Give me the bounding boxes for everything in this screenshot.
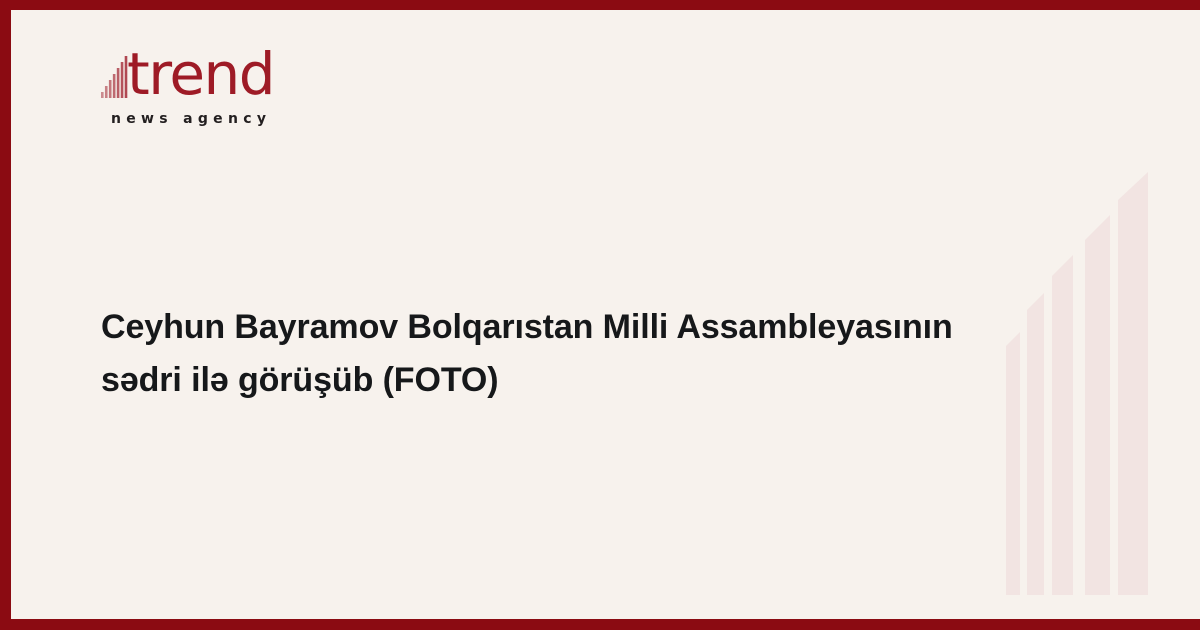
logo-mark-bar-4 [113,74,116,98]
logo-mark-bar-2 [105,86,108,98]
logo-wordmark: trend [127,43,274,105]
logo-mark-bar-6 [121,62,124,98]
logo-tagline: news agency [111,111,271,127]
logo-mark-bar-3 [109,80,112,98]
logo-primary-row: trend [101,45,301,107]
logo-mark-bar-5 [117,68,120,98]
page-title: Ceyhun Bayramov Bolqarıstan Milli Assamb… [101,301,1061,407]
logo-mark-bar-1 [101,92,104,98]
card-canvas: trend news agency Ceyhun Bayramov Bolqar… [11,10,1200,619]
trend-news-agency-logo[interactable]: trend news agency [101,45,301,140]
deco-bar-5 [1118,172,1148,595]
page-title-line-1: Ceyhun Bayramov Bolqarıstan Milli Assamb… [101,301,1061,354]
page-title-line-2: sədri ilə görüşüb (FOTO) [101,354,1061,407]
share-card: trend news agency Ceyhun Bayramov Bolqar… [0,0,1200,630]
deco-bar-4 [1085,215,1110,595]
